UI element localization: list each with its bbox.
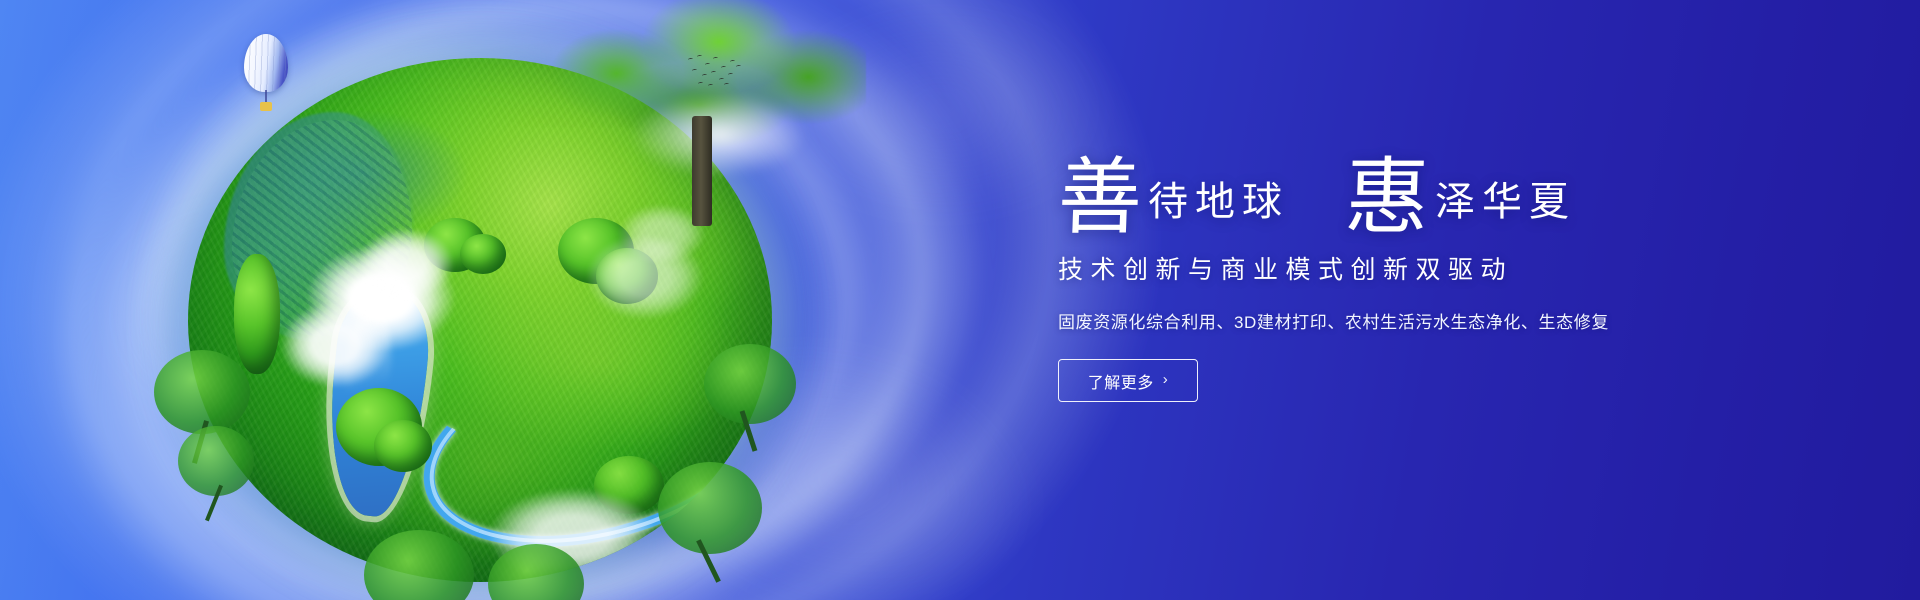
description: 固废资源化综合利用、3D建材打印、农村生活污水生态净化、生态修复 — [1058, 308, 1758, 333]
headline: 善 待地球 惠 泽华夏 — [1058, 138, 1758, 230]
hero-content: 善 待地球 惠 泽华夏 技术创新与商业模式创新双驱动 固废资源化综合利用、3D建… — [1058, 138, 1758, 402]
hot-air-balloon-icon — [244, 34, 288, 116]
bird-flock-icon — [686, 54, 742, 88]
tree-cluster — [460, 234, 506, 274]
learn-more-button[interactable]: 了解更多 › — [1058, 359, 1198, 402]
balloon-seams — [244, 34, 288, 92]
headline-rest-1: 待地球 — [1148, 182, 1289, 230]
tree-cluster — [234, 254, 280, 374]
cloud-puff — [358, 228, 454, 300]
chevron-right-icon: › — [1163, 371, 1169, 388]
tree-trunk — [692, 116, 712, 226]
headline-rest-2: 泽华夏 — [1435, 182, 1576, 230]
top-tree — [546, 0, 866, 226]
cloud-puff — [280, 302, 390, 388]
globe-illustration — [188, 58, 772, 582]
learn-more-label: 了解更多 — [1088, 369, 1154, 393]
headline-lead-2: 惠 — [1344, 159, 1431, 236]
tree-cluster — [374, 420, 432, 472]
headline-lead-1: 善 — [1057, 159, 1144, 236]
subtitle: 技术创新与商业模式创新双驱动 — [1058, 250, 1758, 286]
hero-banner: 善 待地球 惠 泽华夏 技术创新与商业模式创新双驱动 固废资源化综合利用、3D建… — [0, 0, 1920, 600]
tree-mist — [604, 80, 834, 190]
balloon-basket — [260, 102, 272, 111]
